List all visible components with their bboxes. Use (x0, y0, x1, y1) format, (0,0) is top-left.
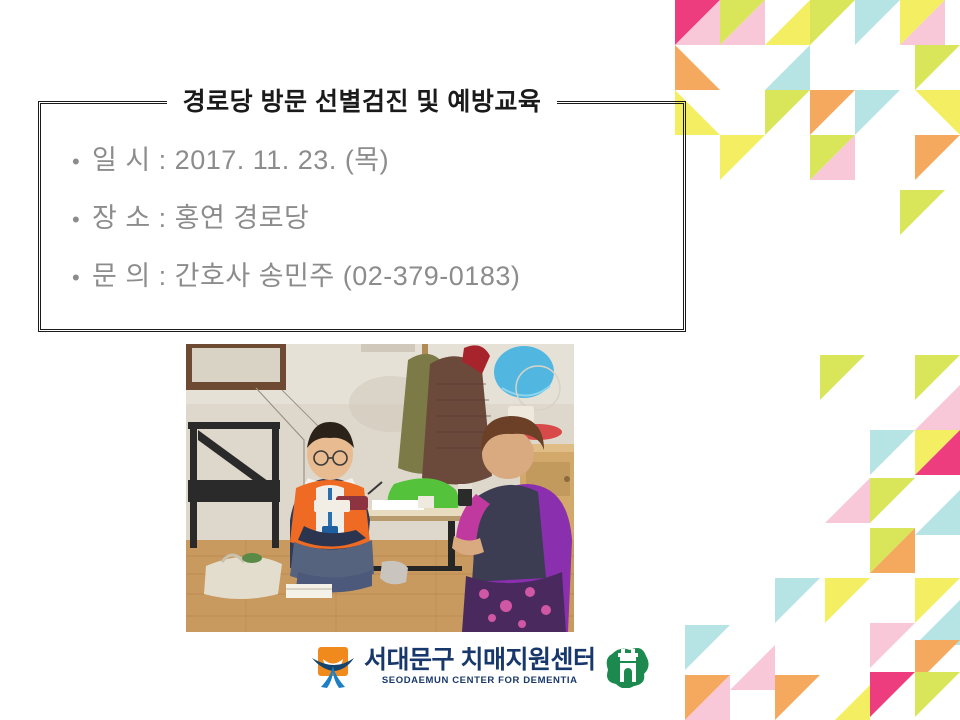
list-item-label: 문 의 : 간호사 송민주 (02-379-0183) (92, 256, 672, 296)
decorative-triangle (810, 90, 855, 135)
decorative-triangle (675, 0, 720, 45)
decorative-triangle (915, 135, 960, 180)
decorative-triangle (870, 623, 915, 668)
decorative-triangle (765, 0, 810, 45)
decorative-triangle (730, 645, 775, 690)
seodaemun-gu-person-mark-icon (311, 646, 355, 688)
decorative-triangle (775, 675, 820, 720)
list-item-label: 장 소 : 홍연 경로당 (92, 198, 672, 238)
decorative-triangle (810, 135, 855, 180)
decorative-triangle (685, 625, 730, 670)
decorative-triangle (915, 600, 960, 645)
decorative-triangle (870, 528, 915, 573)
photo-illustration (186, 344, 574, 632)
decorative-triangle (765, 90, 810, 135)
decorative-triangle (915, 385, 960, 430)
decorative-triangle (915, 672, 960, 717)
bullet-icon: • (72, 258, 92, 298)
event-photo (186, 344, 574, 632)
decorative-triangle (685, 675, 730, 720)
decorative-triangle (915, 490, 960, 535)
list-item: • 문 의 : 간호사 송민주 (02-379-0183) (72, 256, 672, 298)
decorative-triangle (900, 190, 945, 235)
decorative-triangle (685, 675, 730, 720)
decorative-triangle (855, 0, 900, 45)
decorative-triangle (810, 0, 855, 45)
decorative-triangle (825, 685, 870, 720)
decorative-triangle (855, 90, 900, 135)
decorative-triangle (870, 430, 915, 475)
decorative-triangle (720, 135, 765, 180)
decorative-triangle (825, 578, 870, 623)
decorative-triangle (915, 578, 960, 623)
decorative-triangle (915, 355, 960, 400)
presentation-slide: 경로당 방문 선별검진 및 예방교육 • 일 시 : 2017. 11. 23.… (0, 0, 960, 720)
decorative-triangle (720, 0, 765, 45)
decorative-triangle (810, 135, 855, 180)
organization-logo: 서대문구 치매지원센터 SEODAEMUN CENTER FOR DEMENTI… (311, 644, 650, 690)
decorative-triangle (900, 0, 945, 45)
bullet-icon: • (72, 200, 92, 240)
decorative-triangle (765, 45, 810, 90)
bullet-icon: • (72, 142, 92, 182)
decorative-triangle (720, 0, 765, 45)
decorative-triangle (870, 672, 915, 717)
logo-title-korean: 서대문구 치매지원센터 (364, 648, 595, 673)
decorative-triangle (915, 430, 960, 475)
list-item: • 장 소 : 홍연 경로당 (72, 198, 672, 240)
decorative-triangle (675, 45, 720, 90)
independence-gate-emblem-icon (606, 646, 650, 688)
details-list: • 일 시 : 2017. 11. 23. (목) • 장 소 : 홍연 경로당… (72, 140, 672, 314)
decorative-triangle (900, 0, 945, 45)
decorative-triangle (870, 528, 915, 573)
logo-text-block: 서대문구 치매지원센터 SEODAEMUN CENTER FOR DEMENTI… (364, 648, 595, 686)
decorative-triangle (775, 578, 820, 623)
logo-title-english: SEODAEMUN CENTER FOR DEMENTIA (364, 676, 595, 686)
decorative-triangle (825, 478, 870, 523)
decorative-triangle (870, 478, 915, 523)
decorative-triangle (915, 45, 960, 90)
list-item: • 일 시 : 2017. 11. 23. (목) (72, 140, 672, 182)
list-item-label: 일 시 : 2017. 11. 23. (목) (92, 140, 672, 180)
decorative-triangle (915, 430, 960, 475)
decorative-triangle (675, 0, 720, 45)
decorative-triangle (915, 90, 960, 135)
decorative-triangle (820, 355, 865, 400)
decorative-triangle (915, 640, 960, 685)
